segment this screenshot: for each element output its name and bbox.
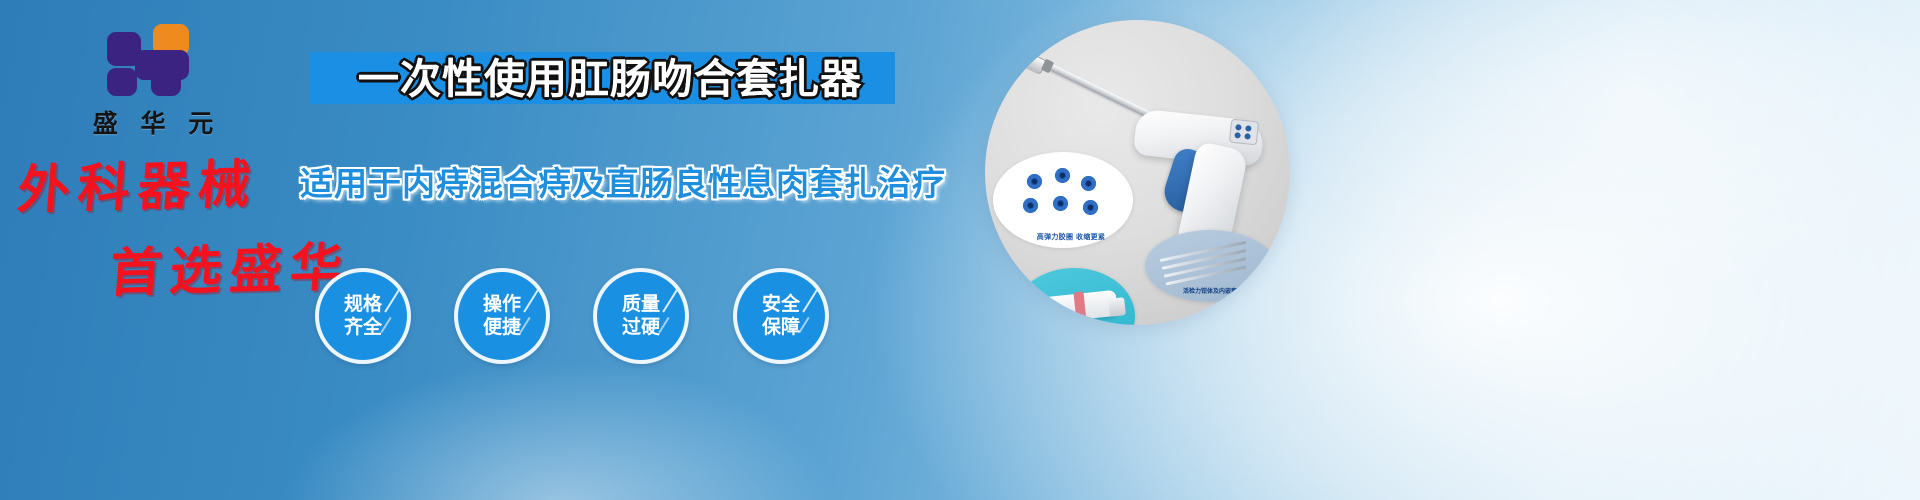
brand-logo-block[interactable]: 盛 华 元	[68, 24, 238, 140]
device-button-dot	[1234, 132, 1241, 139]
feature-circle-3[interactable]: 质量 过硬	[593, 268, 689, 364]
cartridge-tip	[1108, 297, 1126, 317]
inset-rings-caption: 高弹力胶圈 收缩更紧	[1005, 232, 1137, 242]
device-button-pad	[1229, 119, 1259, 146]
rubber-ring-icon	[1023, 198, 1038, 213]
promo-banner: 盛 华 元 外科器械 首选盛华 一次性使用肛肠吻合套扎器 一次性使用肛肠吻合套扎…	[0, 0, 1920, 500]
feature-label-line1: 规格	[344, 293, 382, 316]
slash-decoration-icon	[380, 317, 391, 333]
slash-decoration-icon	[802, 289, 817, 312]
feature-circle-1[interactable]: 规格 齐全	[315, 268, 411, 364]
inset-cartridge	[1013, 268, 1135, 325]
background-glow-bottom	[280, 360, 840, 500]
device-button-dot	[1245, 125, 1252, 132]
feature-circle-group: 规格 齐全 操作 便捷 质量 过硬 安全 保障	[315, 268, 875, 363]
feature-label-line2: 过硬	[622, 316, 660, 339]
feature-label-line2: 齐全	[344, 316, 382, 339]
device-shaft-tip	[1011, 47, 1047, 75]
inset-needles-caption: 活检力钳体及内嵌套	[1151, 286, 1269, 295]
feature-circle-2[interactable]: 操作 便捷	[454, 268, 550, 364]
feature-label-line1: 操作	[483, 293, 521, 316]
headline-title: 一次性使用肛肠吻合套扎器	[330, 54, 890, 104]
rubber-ring-icon	[1027, 174, 1042, 189]
slash-decoration-icon	[519, 317, 530, 333]
slash-decoration-icon	[798, 317, 809, 333]
slash-decoration-icon	[523, 289, 538, 312]
feature-label-line2: 保障	[762, 316, 800, 339]
rubber-ring-icon	[1055, 168, 1070, 183]
rubber-ring-icon	[1083, 200, 1098, 215]
feature-label-line1: 质量	[622, 293, 660, 316]
rubber-ring-icon	[1081, 176, 1096, 191]
slash-decoration-icon	[658, 317, 669, 333]
feature-circle-4[interactable]: 安全 保障	[733, 268, 829, 364]
feature-label-line1: 安全	[762, 293, 800, 316]
subtitle: 适用于内痔混合痔及直肠良性息肉套扎治疗	[300, 157, 920, 205]
background-glow-top-right	[1280, 0, 1920, 300]
slash-decoration-icon	[662, 289, 677, 312]
device-button-dot	[1235, 124, 1242, 131]
feature-label-line2: 便捷	[483, 316, 521, 339]
device-button-dot	[1244, 133, 1251, 140]
brand-name: 盛 华 元	[68, 104, 238, 140]
logo-shape-bottom-left	[107, 68, 137, 96]
rubber-ring-icon	[1053, 196, 1068, 211]
inset-needle-set: 活检力钳体及内嵌套	[1145, 230, 1275, 302]
product-photo: 高弹力胶圈 收缩更紧 活检力钳体及内嵌套	[985, 20, 1290, 325]
shenghuayuan-block-logo-icon	[107, 24, 199, 98]
logo-shape-bottom-right	[151, 68, 181, 96]
slash-decoration-icon	[384, 289, 399, 312]
inset-rubber-rings: 高弹力胶圈 收缩更紧	[993, 152, 1133, 248]
